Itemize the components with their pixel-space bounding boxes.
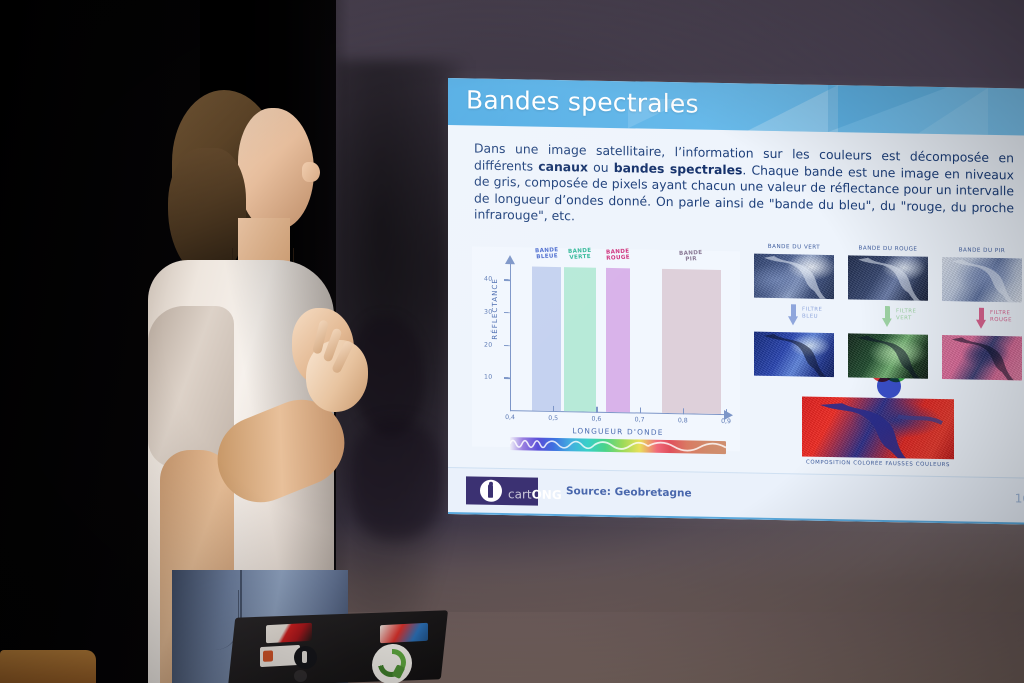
false-color-composite-image <box>802 396 954 459</box>
y-axis-arrow-icon <box>505 255 515 264</box>
presenter-nose <box>302 162 320 182</box>
chart-y-tick <box>504 377 511 378</box>
chart-y-tick-label: 10 <box>484 374 492 381</box>
chart-x-tick <box>553 406 554 412</box>
satellite-band-image <box>754 254 834 299</box>
chart-bar <box>532 267 560 411</box>
decor-triangle-1 <box>748 83 838 132</box>
filtered-band-image <box>848 333 928 378</box>
chart-x-tick-label: 0,8 <box>678 417 688 424</box>
slide-page-number: 16 <box>1015 491 1024 505</box>
composite-caption: COMPOSITION COLORÉE FAUSSES COULEURS <box>806 460 950 469</box>
logo-text-light: cart <box>508 487 532 501</box>
slide-title-bar: Bandes spectrales <box>448 78 1024 136</box>
chart-x-tick <box>726 409 727 415</box>
band-column-header: BANDE DU VERT <box>768 244 820 251</box>
reflectance-chart: RÉFLECTANCE LONGUEUR D'ONDE BANDEBLEUEBA… <box>472 246 740 451</box>
chart-bar-label: BANDEBLEUE <box>534 247 558 261</box>
chart-y-tick-label: 40 <box>484 276 492 283</box>
presentation-photo: Bandes spectrales Dans une image satelli… <box>0 0 1024 683</box>
river-overlay <box>942 335 1022 380</box>
chart-x-tick <box>640 408 641 414</box>
chart-x-tick <box>683 408 684 414</box>
chart-bar <box>564 267 596 411</box>
chart-x-tick <box>596 407 597 413</box>
cartong-logo: cartONG <box>466 476 538 505</box>
spectrum-wave-icon <box>510 437 726 454</box>
band-filter-grid: COMPOSITION COLORÉE FAUSSES COULEURS BAN… <box>748 243 1020 470</box>
logo-person-body-icon <box>488 484 493 498</box>
decor-triangle-3 <box>918 87 988 135</box>
satellite-band-image <box>848 255 928 300</box>
chart-x-tick <box>510 405 511 411</box>
body-emphasis: canaux <box>538 158 588 174</box>
band-column-header: BANDE DU ROUGE <box>859 246 918 253</box>
river-overlay <box>942 257 1022 302</box>
river-overlay <box>802 396 954 459</box>
river-overlay <box>848 255 928 300</box>
filter-label: FILTREBLEU <box>802 306 822 320</box>
filter-label: FILTREVERT <box>896 308 916 322</box>
chart-y-tick <box>504 312 511 313</box>
filter-label: FILTREROUGE <box>990 310 1012 324</box>
chart-y-axis <box>510 263 511 411</box>
body-emphasis: bandes spectrales <box>614 160 743 177</box>
laptop-brand-mark-icon <box>294 670 307 682</box>
red-sticker-icon <box>266 623 312 643</box>
river-overlay <box>754 332 834 377</box>
filter-arrow-icon <box>882 306 893 328</box>
chart-y-tick <box>504 279 511 280</box>
chart-y-tick <box>504 345 511 346</box>
qgis-logo-sticker-icon <box>372 643 412 683</box>
chart-bars-layer: BANDEBLEUEBANDEVERTEBANDEROUGEBANDEPIR <box>472 246 740 251</box>
chart-bar <box>606 268 630 412</box>
filtered-band-image <box>942 335 1022 380</box>
chart-x-tick-label: 0,6 <box>591 416 601 423</box>
chart-y-tick-label: 30 <box>484 309 492 316</box>
chart-x-tick-label: 0,4 <box>505 414 515 421</box>
river-overlay <box>754 254 834 299</box>
river-overlay <box>848 333 928 378</box>
chart-x-axis-title: LONGUEUR D'ONDE <box>510 425 726 438</box>
projected-slide: Bandes spectrales Dans une image satelli… <box>448 78 1024 525</box>
body-run: ou <box>588 159 614 174</box>
spectrum-bar <box>510 437 726 454</box>
chart-bar-label: BANDEPIR <box>679 250 703 264</box>
filter-arrow-icon <box>788 304 799 326</box>
filtered-band-image <box>754 332 834 377</box>
laptop <box>232 614 444 683</box>
slide-body-text: Dans une image satellitaire, l’informati… <box>474 140 1014 233</box>
logo-text-bold: ONG <box>532 488 562 503</box>
band-column-header: BANDE DU PIR <box>959 247 1006 254</box>
chart-x-tick-label: 0,5 <box>548 415 558 422</box>
chart-bar-label: BANDEVERTE <box>568 248 592 262</box>
chart-x-tick-label: 0,7 <box>635 416 645 423</box>
filter-arrow-icon <box>976 308 987 330</box>
presenter <box>120 90 380 683</box>
chart-y-tick-label: 20 <box>484 341 492 348</box>
slide-source-label: Source: Geobretagne <box>566 485 692 499</box>
chart-bar <box>662 269 721 414</box>
chart-x-tick-label: 0,9 <box>721 418 731 425</box>
slide-title: Bandes spectrales <box>466 85 699 118</box>
dark-round-sticker-icon <box>294 646 317 669</box>
logo-wordmark: cartONG <box>508 487 562 502</box>
satellite-band-image <box>942 257 1022 302</box>
blue-red-sticker-icon <box>380 623 428 644</box>
chart-bar-label: BANDEROUGE <box>606 249 631 263</box>
wooden-furniture-edge <box>0 650 96 683</box>
